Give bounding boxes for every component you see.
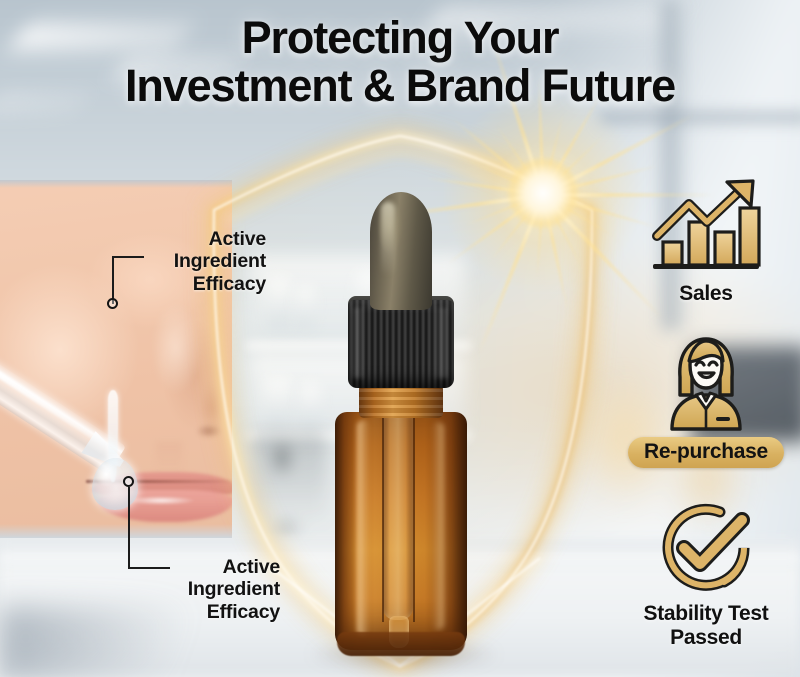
page-title: Protecting Your Investment & Brand Futur… bbox=[0, 14, 800, 109]
lab-jar bbox=[266, 378, 290, 428]
bottle-neck bbox=[359, 384, 443, 418]
benefit-label-stability-line-2: Passed bbox=[670, 626, 742, 649]
window-sill bbox=[600, 112, 800, 128]
callout-line-3: Efficacy bbox=[207, 601, 280, 623]
benefit-label-repurchase: Re-purchase bbox=[628, 437, 784, 468]
title-line-1: Protecting Your bbox=[0, 14, 800, 62]
lab-jar bbox=[296, 286, 314, 330]
callout-text: Active Ingredient Efficacy bbox=[170, 556, 280, 623]
inner-pipette-edge bbox=[382, 414, 384, 622]
cap-highlight bbox=[354, 308, 366, 378]
leader-line-horizontal bbox=[112, 256, 144, 258]
smiling-customer-icon bbox=[612, 333, 800, 431]
bottle-highlight-left bbox=[357, 420, 370, 636]
inset-top-fade bbox=[0, 180, 232, 188]
callout-line-3: Efficacy bbox=[193, 273, 266, 295]
callout-text: Active Ingredient Efficacy bbox=[142, 228, 266, 295]
microscope-icon bbox=[252, 432, 326, 544]
leader-line-vertical bbox=[112, 256, 114, 304]
amber-dropper-bottle bbox=[327, 192, 475, 662]
benefit-item-stability: Stability Test Passed bbox=[612, 498, 800, 649]
bulb-highlight bbox=[381, 202, 395, 276]
leader-endpoint-marker bbox=[107, 298, 118, 309]
callout-line-1: Active bbox=[209, 228, 266, 250]
callout-line-2: Ingredient bbox=[188, 578, 280, 600]
cap-highlight bbox=[431, 308, 447, 378]
philtrum-shape bbox=[156, 442, 182, 476]
bottle-base bbox=[337, 632, 465, 656]
lip-gloss-highlight bbox=[126, 496, 196, 505]
inner-pipette-edge bbox=[413, 414, 415, 622]
check-circle-icon bbox=[612, 498, 800, 596]
bottle-highlight-right bbox=[432, 422, 444, 630]
benefit-column: Sales bbox=[612, 178, 800, 658]
leader-endpoint-marker bbox=[123, 476, 134, 487]
title-line-2: Investment & Brand Future bbox=[0, 62, 800, 110]
dropper-rubber-bulb bbox=[370, 192, 432, 310]
lab-jar bbox=[268, 278, 290, 330]
benefit-label-stability-line-1: Stability Test bbox=[644, 602, 769, 625]
poster-canvas: Active Ingredient Efficacy Active Ingred… bbox=[0, 0, 800, 677]
nostril-shape bbox=[196, 424, 222, 438]
benefit-label-stability: Stability Test Passed bbox=[612, 602, 800, 649]
lab-jar bbox=[300, 384, 320, 428]
bar-chart-growth-icon bbox=[612, 178, 800, 276]
leader-line-horizontal bbox=[128, 567, 170, 569]
inner-pipette-tube bbox=[383, 414, 413, 620]
callout-line-1: Active bbox=[223, 556, 280, 578]
inset-bottom-fade bbox=[0, 524, 232, 538]
benefit-item-sales: Sales bbox=[612, 178, 800, 306]
benefit-item-repurchase: Re-purchase bbox=[612, 333, 800, 468]
leader-line-vertical bbox=[128, 487, 130, 569]
callout-line-2: Ingredient bbox=[174, 250, 266, 272]
benefit-label-sales: Sales bbox=[612, 282, 800, 306]
